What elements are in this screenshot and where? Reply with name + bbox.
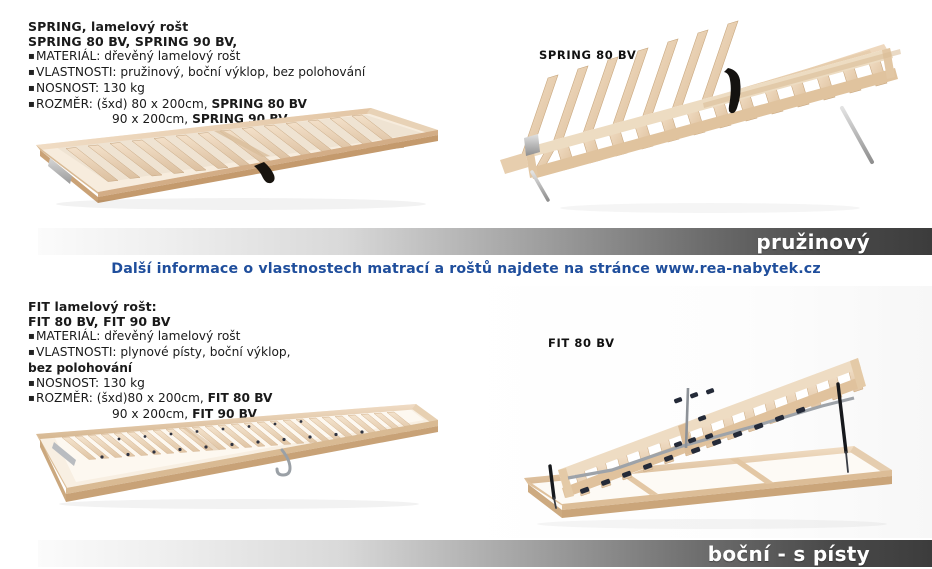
spec-item-capacity: ▪NOSNOST: 130 kg	[28, 376, 291, 392]
spec-label: VLASTNOSTI:	[36, 65, 117, 79]
spring-title-line2: SPRING 80 BV, SPRING 90 BV,	[28, 35, 365, 50]
bullet-icon: ▪	[28, 66, 36, 81]
bullet-icon: ▪	[28, 346, 36, 361]
bullet-icon: ▪	[28, 82, 36, 97]
spec-label: NOSNOST:	[36, 81, 99, 95]
photo-spring-flat	[26, 100, 446, 220]
spring-title-line1: SPRING, lamelový rošt	[28, 20, 365, 35]
spec-value: plynové písty, boční výklop,	[120, 345, 290, 359]
promo-text: Další informace o vlastnostech matrací a…	[111, 261, 820, 277]
bullet-icon: ▪	[28, 50, 36, 65]
bullet-icon: ▪	[28, 330, 36, 345]
footer-bar-label-fit: boční - s písty	[708, 542, 870, 566]
fit-bold-note: bez polohování	[28, 361, 291, 376]
fit-title-line1: FIT lamelový rošt:	[28, 300, 291, 315]
spec-value: dřevěný lamelový rošt	[104, 49, 240, 63]
bullet-icon: ▪	[28, 377, 36, 392]
spec-value: 130 kg	[103, 376, 145, 390]
spec-item-properties: ▪VLASTNOSTI: plynové písty, boční výklop…	[28, 345, 291, 361]
spec-label: VLASTNOSTI:	[36, 345, 117, 359]
photo-fit-tilted	[462, 348, 932, 538]
footer-bar-fit: boční - s písty	[38, 540, 932, 567]
catalog-page: SPRING, lamelový rošt SPRING 80 BV, SPRI…	[0, 0, 932, 569]
spec-label: NOSNOST:	[36, 376, 99, 390]
spec-value: 130 kg	[103, 81, 145, 95]
photo-fit-flat	[24, 398, 444, 516]
spec-label: MATERIÁL:	[36, 329, 100, 343]
fit-spec-list-upper: ▪MATERIÁL: dřevěný lamelový rošt ▪VLASTN…	[28, 329, 291, 361]
spec-value: pružinový, boční výklop, bez polohování	[120, 65, 365, 79]
fit-title-line2: FIT 80 BV, FIT 90 BV	[28, 315, 291, 330]
spec-label: MATERIÁL:	[36, 49, 100, 63]
spec-item-material: ▪MATERIÁL: dřevěný lamelový rošt	[28, 49, 365, 65]
spec-item-material: ▪MATERIÁL: dřevěný lamelový rošt	[28, 329, 291, 345]
spec-item-properties: ▪VLASTNOSTI: pružinový, boční výklop, be…	[28, 65, 365, 81]
promo-banner: Další informace o vlastnostech matrací a…	[0, 261, 932, 277]
spec-value: dřevěný lamelový rošt	[104, 329, 240, 343]
footer-bar-spring: pružinový	[38, 228, 932, 255]
photo-spring-tilted	[470, 30, 932, 220]
footer-bar-label-spring: pružinový	[756, 230, 870, 254]
spec-item-capacity: ▪NOSNOST: 130 kg	[28, 81, 365, 97]
